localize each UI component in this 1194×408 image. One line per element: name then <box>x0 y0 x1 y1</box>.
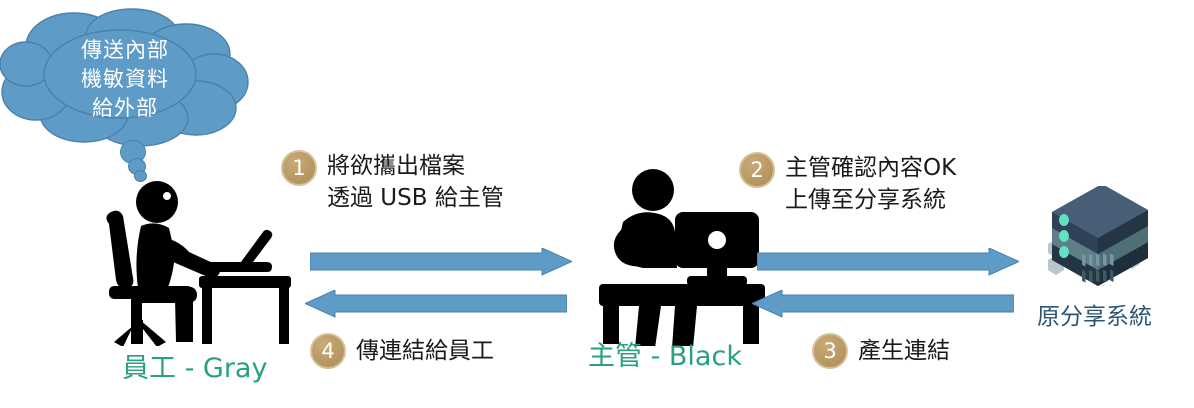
server-rack-icon <box>1032 186 1162 286</box>
arrow-step-1-right <box>310 248 572 276</box>
arrow-step-4-left <box>305 290 567 318</box>
step-4-badge: 4 <box>310 333 346 369</box>
employee-caption: 員工 - Gray <box>122 352 267 386</box>
step-1-badge: 1 <box>281 150 317 186</box>
arrow-step-3-left <box>752 290 1014 318</box>
step-4: 4 傳連結給員工 <box>310 333 494 369</box>
thought-bubble-cloud: 傳送內部 機敏資料 給外部 <box>0 8 252 148</box>
step-4-text: 傳連結給員工 <box>356 335 494 367</box>
step-1: 1 將欲攜出檔案 透過 USB 給主管 <box>281 150 504 214</box>
step-1-line-1: 將欲攜出檔案 <box>327 150 504 182</box>
step-1-line-2: 透過 USB 給主管 <box>327 182 504 214</box>
step-2-line-1: 主管確認內容OK <box>785 152 956 184</box>
step-2-badge: 2 <box>739 152 775 188</box>
step-2-line-2: 上傳至分享系統 <box>785 184 956 216</box>
step-3-badge: 3 <box>812 333 848 369</box>
step-2: 2 主管確認內容OK 上傳至分享系統 <box>739 152 956 216</box>
step-3-line-1: 產生連結 <box>858 335 950 367</box>
arrow-step-2-right <box>757 248 1019 276</box>
diagram-canvas: 傳送內部 機敏資料 給外部 <box>0 0 1194 408</box>
employee-person-at-desk-with-laptop-icon <box>95 178 295 346</box>
manager-caption: 主管 - Black <box>588 340 742 374</box>
step-3: 3 產生連結 <box>812 333 950 369</box>
step-2-text: 主管確認內容OK 上傳至分享系統 <box>785 152 956 216</box>
server-caption: 原分享系統 <box>1037 302 1152 332</box>
step-3-text: 產生連結 <box>858 335 950 367</box>
step-4-line-1: 傳連結給員工 <box>356 335 494 367</box>
step-1-text: 將欲攜出檔案 透過 USB 給主管 <box>327 150 504 214</box>
